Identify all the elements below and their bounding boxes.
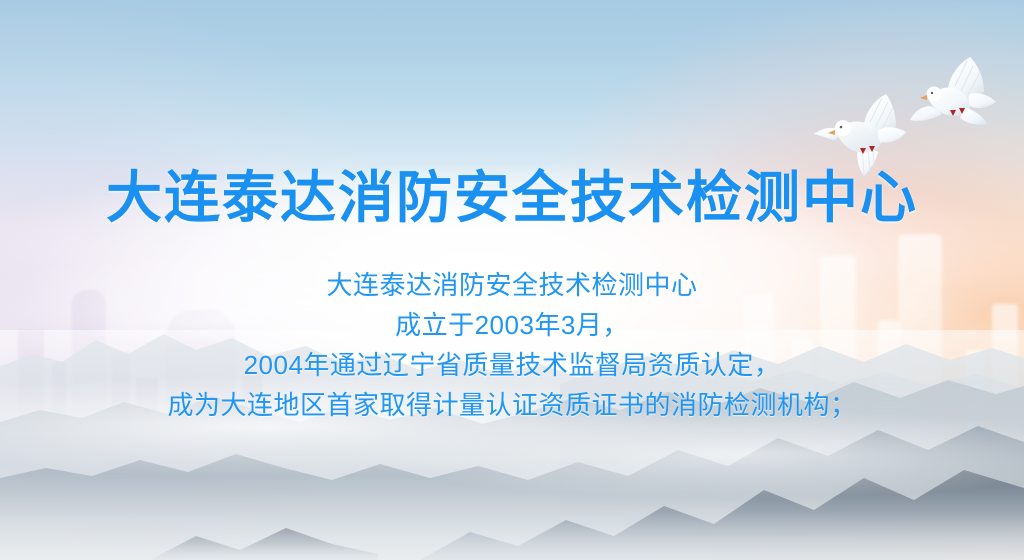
- slide-body-text: 大连泰达消防安全技术检测中心 成立于2003年3月， 2004年通过辽宁省质量技…: [167, 265, 856, 425]
- body-line-3: 2004年通过辽宁省质量技术监督局资质认定，: [167, 345, 856, 385]
- body-line-1: 大连泰达消防安全技术检测中心: [167, 265, 856, 305]
- page-title: 大连泰达消防安全技术检测中心: [106, 168, 918, 227]
- body-line-4: 成为大连地区首家取得计量认证资质证书的消防检测机构；: [167, 385, 856, 425]
- body-line-2: 成立于2003年3月，: [167, 305, 856, 345]
- presentation-slide: 大连泰达消防安全技术检测中心 大连泰达消防安全技术检测中心 成立于2003年3月…: [0, 0, 1024, 560]
- slide-content: 大连泰达消防安全技术检测中心 大连泰达消防安全技术检测中心 成立于2003年3月…: [0, 0, 1024, 560]
